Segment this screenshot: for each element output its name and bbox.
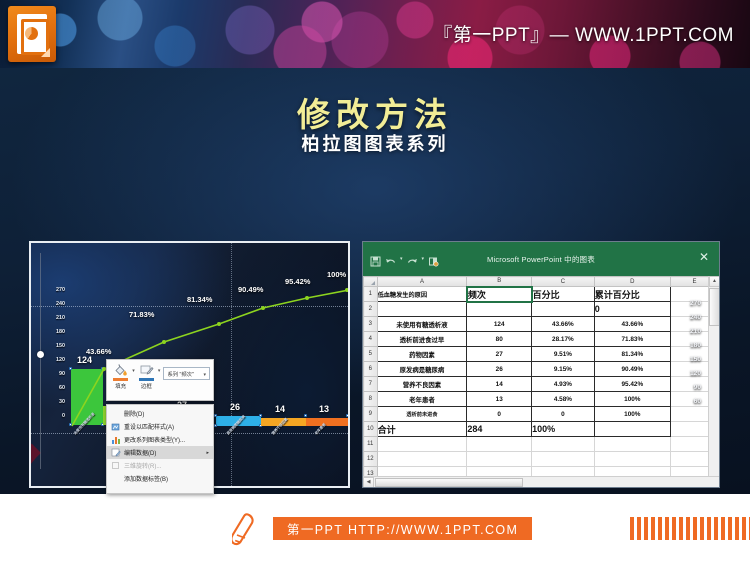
line-point-label: 90.49%	[238, 285, 263, 294]
cell-a7[interactable]: 营养不良因素	[377, 377, 467, 392]
rotate-3d-icon	[111, 461, 121, 471]
cell-b7[interactable]: 14	[467, 377, 532, 392]
line-point-label: 71.83%	[129, 310, 154, 319]
ppt-document-icon	[8, 6, 56, 62]
table-row[interactable]: 9 透析前未进食 0 0 100%	[364, 407, 719, 422]
cell-d11[interactable]	[594, 437, 670, 452]
select-all-corner[interactable]	[364, 277, 378, 287]
cell-c5[interactable]: 9.51%	[532, 347, 595, 362]
overlay-axis-tick: 210	[681, 328, 701, 335]
scroll-up-button[interactable]: ▲	[709, 276, 720, 287]
cell-d8[interactable]: 100%	[594, 392, 670, 407]
table-row[interactable]: 4 透析前进食过早 80 28.17% 71.83%	[364, 332, 719, 347]
excel-title-bar[interactable]: ▾ ▾	[363, 242, 719, 276]
border-dropdown-caret[interactable]: ▾	[158, 368, 161, 374]
menu-item-label: 编辑数据(D)	[124, 448, 156, 457]
table-row[interactable]: 3 未使用有糖透析液 124 43.66% 43.66%	[364, 317, 719, 332]
row-header[interactable]: 10	[364, 422, 378, 437]
pen-border-icon	[139, 364, 154, 377]
cell-c10[interactable]: 100%	[532, 422, 595, 437]
menu-item-label: 添加数据标签(B)	[124, 474, 168, 483]
cell-c2[interactable]	[532, 302, 595, 317]
menu-item-3d-rotation: 三维旋转(R)...	[107, 459, 213, 472]
column-header-row: A B C D E	[364, 277, 719, 287]
cell-d12[interactable]	[594, 452, 670, 467]
menu-item-label: 三维旋转(R)...	[124, 461, 161, 470]
cell-b2[interactable]	[467, 302, 532, 317]
top-banner: 『第一PPT』— WWW.1PPT.COM	[0, 0, 750, 68]
row-header[interactable]: 7	[364, 377, 378, 392]
footer-bar: 第一PPT HTTP://WWW.1PPT.COM	[0, 494, 750, 562]
border-button[interactable]: 边框	[138, 364, 155, 390]
cell-c3[interactable]: 43.66%	[532, 317, 595, 332]
cell-b1[interactable]: 频次	[467, 287, 532, 302]
spreadsheet-grid[interactable]: A B C D E 1 低血糖发生的原因 频次 百分比 累计百分比	[363, 276, 719, 488]
excel-window-title: Microsoft PowerPoint 中的图表	[363, 254, 719, 265]
chevron-down-icon: ▾	[203, 372, 206, 378]
page-title: 修改方法	[0, 88, 750, 136]
cell-c8[interactable]: 4.58%	[532, 392, 595, 407]
row-header[interactable]: 3	[364, 317, 378, 332]
overlay-axis-tick: 90	[681, 384, 701, 391]
menu-item-label: 更改系列图表类型(Y)...	[124, 435, 185, 444]
cell-a12[interactable]	[377, 452, 467, 467]
cell-b10[interactable]: 284	[467, 422, 532, 437]
row-header[interactable]: 9	[364, 407, 378, 422]
cell-b4[interactable]: 80	[467, 332, 532, 347]
cell-c9[interactable]: 0	[532, 407, 595, 422]
scroll-left-button[interactable]: ◀	[363, 477, 374, 488]
table-row[interactable]: 2 0	[364, 302, 719, 317]
cell-b9[interactable]: 0	[467, 407, 532, 422]
submenu-arrow-icon: ▸	[206, 450, 209, 456]
row-header[interactable]: 1	[364, 287, 378, 302]
reset-style-icon	[111, 422, 121, 432]
table-row[interactable]: 12	[364, 452, 719, 467]
border-color-swatch	[139, 378, 154, 381]
menu-item-label: 删除(D)	[124, 409, 144, 418]
footer-url-text: 第一PPT HTTP://WWW.1PPT.COM	[287, 519, 518, 538]
cell-d10[interactable]	[594, 422, 670, 437]
row-header[interactable]: 6	[364, 362, 378, 377]
row-header[interactable]: 5	[364, 347, 378, 362]
overlay-axis-tick: 270	[681, 300, 701, 307]
cell-a10[interactable]: 合计	[377, 422, 467, 437]
horizontal-scrollbar[interactable]: ◀	[363, 476, 720, 487]
overlay-axis-tick: 150	[681, 356, 701, 363]
chart-mini-toolbar[interactable]: 填充 ▾ 边框 ▾ 系列 "频次" ▾	[106, 359, 214, 401]
table-row[interactable]: 5 药物因素 27 9.51% 81.34%	[364, 347, 719, 362]
line-point-label: 100%	[327, 270, 346, 279]
cell-b6[interactable]: 26	[467, 362, 532, 377]
vertical-scrollbar[interactable]: ▲ ▼	[708, 276, 719, 488]
page-subtitle: 柏拉图图表系列	[0, 130, 750, 156]
cell-a1[interactable]: 低血糖发生的原因	[377, 287, 467, 302]
cell-b11[interactable]	[467, 437, 532, 452]
table-row[interactable]: 11	[364, 437, 719, 452]
cell-a2[interactable]	[377, 302, 467, 317]
cell-b3[interactable]: 124	[467, 317, 532, 332]
banner-site-text: 『第一PPT』— WWW.1PPT.COM	[433, 20, 734, 47]
vertical-scroll-thumb[interactable]	[709, 288, 720, 326]
column-header-d[interactable]: D	[594, 277, 670, 287]
data-label-icon	[111, 474, 121, 484]
overlay-axis-tick: 120	[681, 370, 701, 377]
footer-stripes	[630, 517, 750, 540]
chart-type-icon	[111, 435, 121, 445]
table-row[interactable]: 6 原发病是糖尿病 26 9.15% 90.49%	[364, 362, 719, 377]
cell-a4[interactable]: 透析前进食过早	[377, 332, 467, 347]
footer-url-bar: 第一PPT HTTP://WWW.1PPT.COM	[273, 517, 532, 540]
cell-a11[interactable]	[377, 437, 467, 452]
pencil-icon	[232, 513, 258, 546]
column-header-b[interactable]: B	[467, 277, 532, 287]
data-table[interactable]: A B C D E 1 低血糖发生的原因 频次 百分比 累计百分比	[363, 276, 719, 488]
cell-b8[interactable]: 13	[467, 392, 532, 407]
cell-a8[interactable]: 老年患者	[377, 392, 467, 407]
menu-item-change-chart-type[interactable]: 更改系列图表类型(Y)...	[107, 433, 213, 446]
cell-c4[interactable]: 28.17%	[532, 332, 595, 347]
line-point-label: 95.42%	[285, 277, 310, 286]
series-select[interactable]: 系列 "频次" ▾	[163, 367, 210, 380]
cell-d9[interactable]: 100%	[594, 407, 670, 422]
row-header[interactable]: 2	[364, 302, 378, 317]
overlay-axis-tick: 180	[681, 342, 701, 349]
menu-item-reset-style[interactable]: 重设以匹配样式(A)	[107, 420, 213, 433]
slide-body: 修改方法 柏拉图图表系列 270 240 210 180	[0, 68, 750, 494]
cell-a6[interactable]: 原发病是糖尿病	[377, 362, 467, 377]
menu-item-edit-data[interactable]: 编辑数据(D) ▸	[107, 446, 213, 459]
menu-item-label: 重设以匹配样式(A)	[124, 422, 174, 431]
cell-c1[interactable]: 百分比	[532, 287, 595, 302]
cell-d2[interactable]: 0	[594, 302, 670, 317]
line-point-label: 43.66%	[86, 347, 111, 356]
cell-a3[interactable]: 未使用有糖透析液	[377, 317, 467, 332]
close-icon[interactable]: ✕	[697, 251, 711, 265]
table-row[interactable]: 8 老年患者 13 4.58% 100%	[364, 392, 719, 407]
cell-c7[interactable]: 4.93%	[532, 377, 595, 392]
row-header[interactable]: 4	[364, 332, 378, 347]
excel-datasheet-window[interactable]: ▾ ▾	[362, 241, 720, 488]
cell-d3[interactable]: 43.66%	[594, 317, 670, 332]
overlay-axis-tick: 60	[681, 398, 701, 405]
blank-icon	[111, 409, 121, 419]
fill-color-swatch	[113, 378, 128, 381]
table-row[interactable]: 1 低血糖发生的原因 频次 百分比 累计百分比	[364, 287, 719, 302]
fill-dropdown-caret[interactable]: ▾	[132, 368, 135, 374]
fill-button[interactable]: 填充	[112, 364, 129, 390]
cell-b12[interactable]	[467, 452, 532, 467]
cell-d5[interactable]: 81.34%	[594, 347, 670, 362]
overlay-axis-tick: 240	[681, 314, 701, 321]
row-header[interactable]: 11	[364, 437, 378, 452]
row-header[interactable]: 12	[364, 452, 378, 467]
column-header-a[interactable]: A	[377, 277, 467, 287]
menu-item-delete[interactable]: 删除(D)	[107, 407, 213, 420]
cell-c6[interactable]: 9.15%	[532, 362, 595, 377]
cell-d7[interactable]: 95.42%	[594, 377, 670, 392]
border-label: 边框	[138, 382, 155, 390]
cell-c12[interactable]	[532, 452, 595, 467]
menu-item-add-data-label[interactable]: 添加数据标签(B)	[107, 472, 213, 485]
table-row[interactable]: 7 营养不良因素 14 4.93% 95.42%	[364, 377, 719, 392]
cell-d4[interactable]: 71.83%	[594, 332, 670, 347]
cell-d6[interactable]: 90.49%	[594, 362, 670, 377]
cell-d1[interactable]: 累计百分比	[594, 287, 670, 302]
fill-label: 填充	[112, 382, 129, 390]
horizontal-scroll-thumb[interactable]	[375, 478, 523, 487]
row-header[interactable]: 8	[364, 392, 378, 407]
edit-data-icon	[111, 448, 121, 458]
series-select-value: 系列 "频次"	[167, 372, 193, 378]
column-header-c[interactable]: C	[532, 277, 595, 287]
slide-root: 『第一PPT』— WWW.1PPT.COM 修改方法 柏拉图图表系列 270	[0, 0, 750, 562]
cell-b5[interactable]: 27	[467, 347, 532, 362]
line-point-label: 81.34%	[187, 295, 212, 304]
paint-bucket-icon	[113, 364, 128, 377]
table-row[interactable]: 10 合计 284 100%	[364, 422, 719, 437]
cell-c11[interactable]	[532, 437, 595, 452]
chart-context-menu[interactable]: 删除(D) 重设以匹配样式(A)	[106, 404, 214, 494]
cell-a5[interactable]: 药物因素	[377, 347, 467, 362]
cell-a9[interactable]: 透析前未进食	[377, 407, 467, 422]
